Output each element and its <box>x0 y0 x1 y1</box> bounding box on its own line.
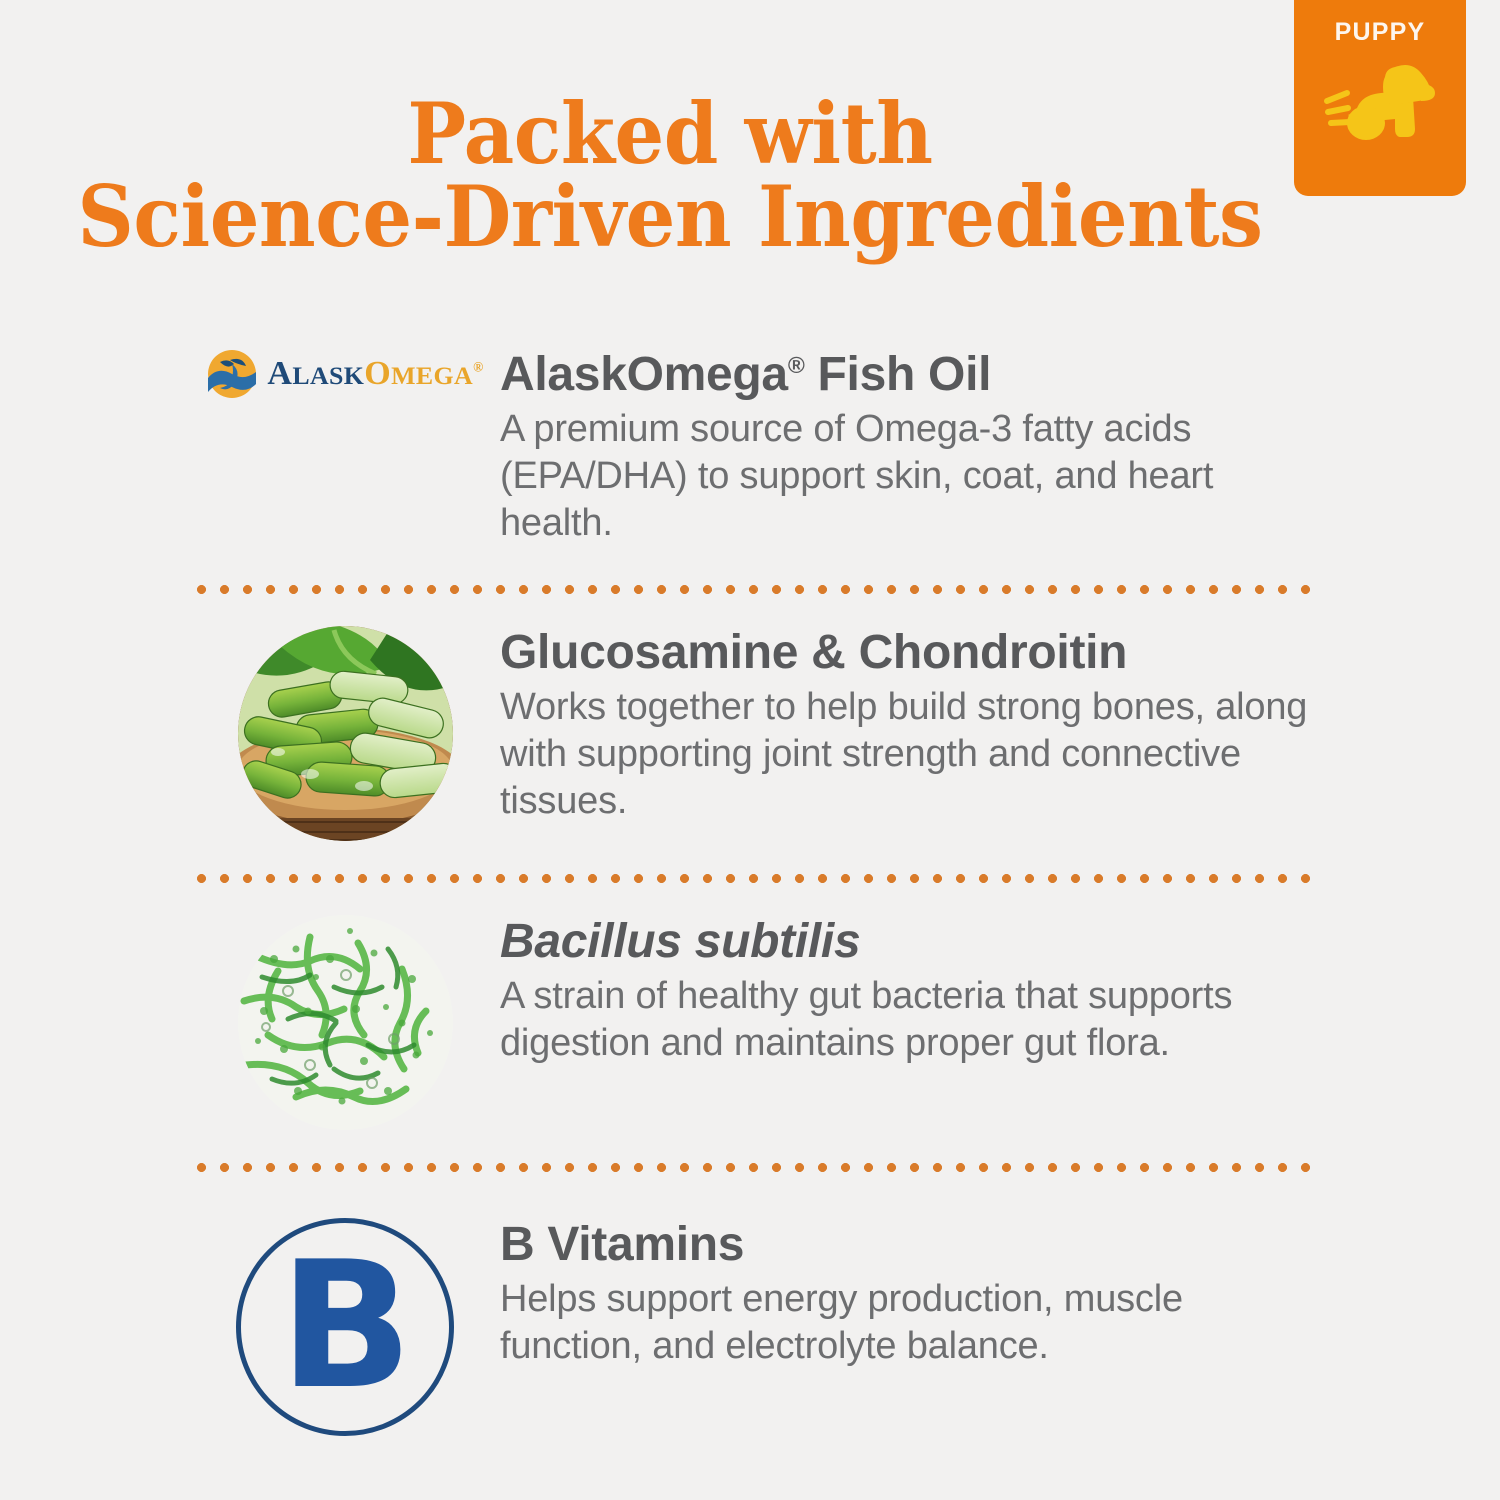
logo-part-mega: MEGA <box>391 361 473 390</box>
ingredient-title-bacillus: Bacillus subtilis <box>500 917 1310 967</box>
alaskomega-wordmark: ALASKOMEGA® <box>267 357 483 391</box>
ingredient-body: Bacillus subtilis A strain of healthy gu… <box>500 915 1310 1067</box>
logo-part-a: A <box>267 355 292 392</box>
puppy-badge: PUPPY <box>1294 0 1466 196</box>
bacteria-microscope-photo <box>190 915 500 1130</box>
ingredient-description-bacillus: A strain of healthy gut bacteria that su… <box>500 973 1310 1067</box>
ingredient-row-bacillus: Bacillus subtilis A strain of healthy gu… <box>190 915 1310 1130</box>
logo-part-lask: LASK <box>292 361 364 390</box>
page-title: Packed with Science-Driven Ingredients <box>47 92 1293 258</box>
puppy-dog-icon <box>1321 57 1439 154</box>
divider-2 <box>190 874 1310 883</box>
logo-registered-mark: ® <box>473 360 484 375</box>
divider-1 <box>190 585 1310 594</box>
page-title-line2: Science-Driven Ingredients <box>47 175 1293 258</box>
ingredient-title-glucosamine: Glucosamine & Chondroitin <box>500 628 1310 678</box>
ingredient-body: Glucosamine & Chondroitin Works together… <box>500 626 1310 825</box>
ingredient-description-alaskomega: A premium source of Omega-3 fatty acids … <box>500 406 1310 547</box>
ingredient-title-alaskomega: AlaskOmega® Fish Oil <box>500 350 1310 400</box>
page-title-line1: Packed with <box>47 92 1293 175</box>
ingredient-description-b-vitamins: Helps support energy production, muscle … <box>500 1276 1310 1370</box>
title-rest: Fish Oil <box>805 348 992 401</box>
infographic-canvas: PUPPY <box>0 0 1500 1500</box>
logo-part-o: O <box>364 355 391 392</box>
ingredient-body: B Vitamins Helps support energy producti… <box>500 1218 1310 1370</box>
alaskomega-logo: ALASKOMEGA® <box>190 348 500 400</box>
puppy-badge-label: PUPPY <box>1335 18 1426 47</box>
ingredient-row-glucosamine: Glucosamine & Chondroitin Works together… <box>190 626 1310 841</box>
title-main: AlaskOmega <box>500 348 788 401</box>
ingredient-row-alaskomega: ALASKOMEGA® AlaskOmega® Fish Oil A premi… <box>190 348 1310 547</box>
title-registered-mark: ® <box>788 352 805 378</box>
divider-3 <box>190 1163 1310 1172</box>
ingredient-title-b-vitamins: B Vitamins <box>500 1220 1310 1270</box>
b-vitamin-circle-icon: B <box>190 1218 500 1436</box>
ingredient-body: AlaskOmega® Fish Oil A premium source of… <box>500 348 1310 547</box>
alaskomega-mark-icon <box>206 348 258 400</box>
b-vitamin-letter: B <box>279 1255 410 1399</box>
green-capsules-photo <box>190 626 500 841</box>
ingredient-description-glucosamine: Works together to help build strong bone… <box>500 684 1310 825</box>
ingredient-row-b-vitamins: B B Vitamins Helps support energy produc… <box>190 1218 1310 1436</box>
